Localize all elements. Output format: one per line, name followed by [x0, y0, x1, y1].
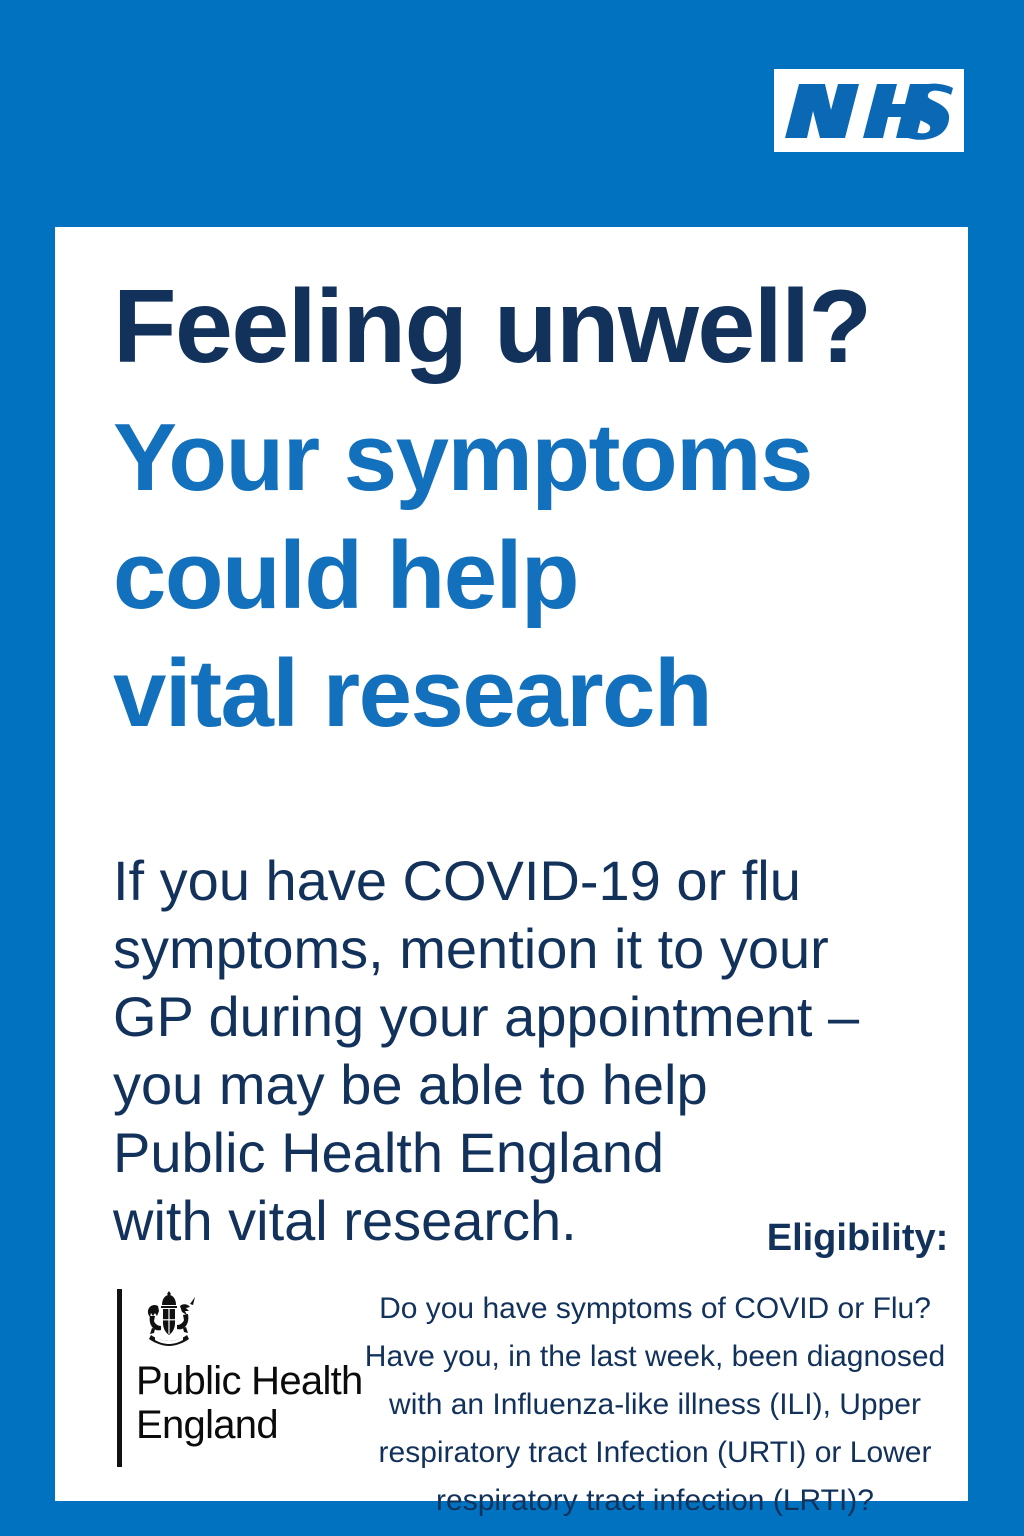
phe-wordmark-line-1: Public Health — [136, 1359, 363, 1403]
body-copy-line-4: you may be able to help — [113, 1051, 913, 1119]
page-subtitle-line-1: Your symptoms — [113, 399, 958, 517]
page-title: Feeling unwell? — [113, 275, 958, 379]
page-subtitle: Your symptoms could help vital research — [113, 399, 958, 753]
eligibility-label: Eligibility: — [745, 1217, 970, 1259]
phe-wordmark-line-2: England — [136, 1403, 363, 1447]
poster-canvas: Feeling unwell? Your symptoms could help… — [0, 0, 1024, 1536]
body-copy-line-1: If you have COVID-19 or flu — [113, 847, 913, 915]
logo-divider-rule — [117, 1289, 122, 1467]
phe-wordmark: Public Health England — [136, 1359, 363, 1447]
page-subtitle-line-3: vital research — [113, 635, 958, 753]
nhs-logo — [774, 69, 964, 152]
body-copy-line-2: symptoms, mention it to your — [113, 915, 913, 983]
eligibility-line-4: respiratory tract Infection (URTI) or Lo… — [355, 1429, 955, 1477]
eligibility-line-1: Do you have symptoms of COVID or Flu? — [355, 1285, 955, 1333]
eligibility-line-5: respiratory tract infection (LRTI)? — [355, 1477, 955, 1525]
eligibility-line-2: Have you, in the last week, been diagnos… — [355, 1333, 955, 1381]
royal-coat-of-arms-crest-icon — [138, 1289, 200, 1351]
page-subtitle-line-2: could help — [113, 517, 958, 635]
public-health-england-logo: Public Health England — [117, 1289, 357, 1474]
content-panel: Feeling unwell? Your symptoms could help… — [55, 227, 968, 1501]
body-copy-line-3: GP during your appointment – — [113, 983, 913, 1051]
eligibility-criteria-text: Do you have symptoms of COVID or Flu? Ha… — [355, 1285, 955, 1525]
nhs-logo-icon — [781, 80, 957, 142]
body-copy: If you have COVID-19 or flu symptoms, me… — [113, 847, 913, 1255]
eligibility-line-3: with an Influenza-like illness (ILI), Up… — [355, 1381, 955, 1429]
headline-block: Feeling unwell? Your symptoms could help… — [113, 275, 958, 753]
body-copy-line-5: Public Health England — [113, 1119, 913, 1187]
logo-content: Public Health England — [136, 1289, 363, 1447]
